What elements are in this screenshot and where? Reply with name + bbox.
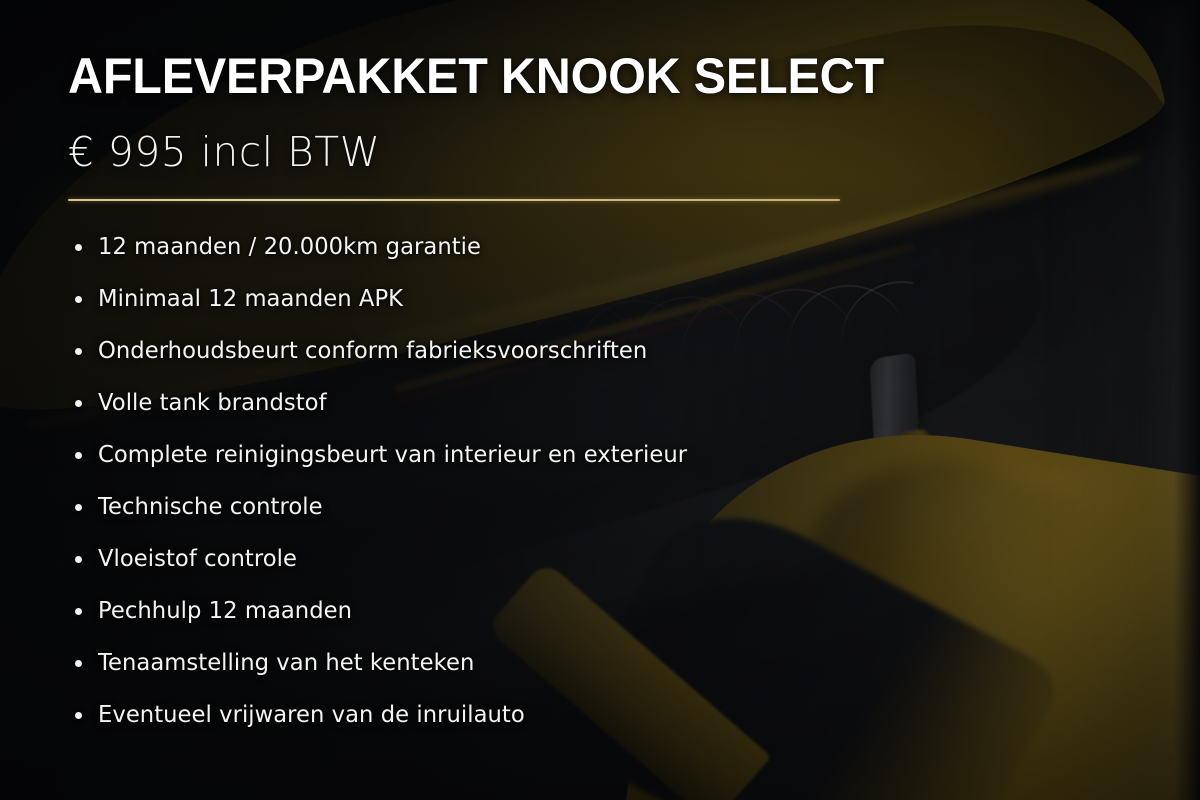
benefits-list: 12 maanden / 20.000km garantieMinimaal 1…: [68, 221, 908, 741]
benefit-list-item: Onderhoudsbeurt conform fabrieksvoorschr…: [68, 325, 908, 377]
bullet-dot-icon: [75, 296, 82, 303]
page-title: AFLEVERPAKKET KNOOK SELECT: [68, 47, 884, 105]
benefit-label: Onderhoudsbeurt conform fabrieksvoorschr…: [98, 338, 647, 364]
benefit-label: Technische controle: [98, 494, 323, 520]
benefit-list-item: 12 maanden / 20.000km garantie: [68, 221, 908, 273]
benefit-label: Vloeistof controle: [98, 546, 297, 572]
benefit-list-item: Technische controle: [68, 481, 908, 533]
bullet-dot-icon: [75, 504, 82, 511]
delivery-package-poster: AFLEVERPAKKET KNOOK SELECT € 995 incl BT…: [0, 0, 1200, 800]
benefit-label: 12 maanden / 20.000km garantie: [98, 234, 481, 260]
benefit-list-item: Volle tank brandstof: [68, 377, 908, 429]
benefit-label: Eventueel vrijwaren van de inruilauto: [98, 702, 525, 728]
benefit-label: Volle tank brandstof: [98, 390, 327, 416]
poster-content: AFLEVERPAKKET KNOOK SELECT € 995 incl BT…: [0, 0, 1200, 800]
bullet-dot-icon: [75, 348, 82, 355]
benefit-label: Complete reinigingsbeurt van interieur e…: [98, 442, 687, 468]
benefit-list-item: Minimaal 12 maanden APK: [68, 273, 908, 325]
bullet-dot-icon: [75, 400, 82, 407]
benefit-list-item: Tenaamstelling van het kenteken: [68, 637, 908, 689]
gold-divider: [68, 199, 840, 201]
bullet-dot-icon: [75, 712, 82, 719]
bullet-dot-icon: [75, 244, 82, 251]
bullet-dot-icon: [75, 556, 82, 563]
benefit-list-item: Pechhulp 12 maanden: [68, 585, 908, 637]
benefit-list-item: Complete reinigingsbeurt van interieur e…: [68, 429, 908, 481]
benefit-label: Minimaal 12 maanden APK: [98, 286, 403, 312]
price-label: € 995 incl BTW: [68, 126, 380, 178]
benefit-list-item: Vloeistof controle: [68, 533, 908, 585]
bullet-dot-icon: [75, 608, 82, 615]
benefit-label: Tenaamstelling van het kenteken: [98, 650, 474, 676]
benefit-list-item: Eventueel vrijwaren van de inruilauto: [68, 689, 908, 741]
bullet-dot-icon: [75, 660, 82, 667]
bullet-dot-icon: [75, 452, 82, 459]
benefit-label: Pechhulp 12 maanden: [98, 598, 352, 624]
